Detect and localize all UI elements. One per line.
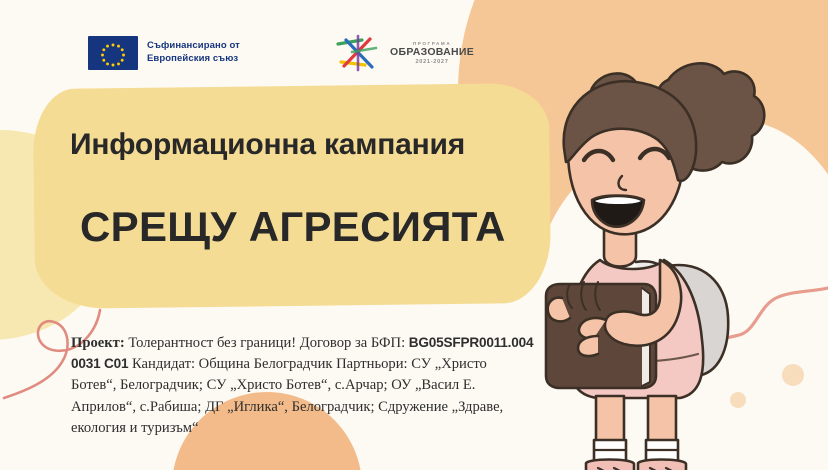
- project-label: Проект:: [71, 335, 125, 351]
- campaign-subtitle: Информационна кампания: [70, 130, 540, 160]
- eu-cofunding-logo: Съфинансирано от Европейския съюз: [88, 36, 240, 70]
- project-name: Толерантност без граници! Договор за БФП…: [125, 335, 409, 351]
- contract-code-part1: BG05SFPR001: [409, 335, 501, 350]
- programme-x-mark-icon: [332, 32, 384, 74]
- project-partners: Кандидат: Община Белоградчик Партньори: …: [71, 356, 503, 436]
- schoolgirl-with-book-illustration: [540, 44, 828, 470]
- eu-cofunding-label: Съфинансирано от Европейския съюз: [147, 40, 240, 65]
- headline-block: Информационна кампания СРЕЩУ АГРЕСИЯТА: [70, 130, 540, 248]
- project-info-text: Проект: Толерантност без граници! Догово…: [71, 333, 535, 440]
- european-union-flag-icon: [88, 36, 138, 70]
- programme-years: 2021-2027: [390, 59, 474, 66]
- campaign-title: СРЕЩУ АГРЕСИЯТА: [80, 206, 540, 248]
- programme-text-block: ПРОГРАМА ОБРАЗОВАНИЕ 2021-2027: [390, 41, 474, 65]
- programme-title: ОБРАЗОВАНИЕ: [390, 46, 474, 58]
- poster-slide: Съфинансирано от Европейския съюз ПРОГРА…: [0, 0, 828, 470]
- programme-education-logo: ПРОГРАМА ОБРАЗОВАНИЕ 2021-2027: [332, 32, 474, 74]
